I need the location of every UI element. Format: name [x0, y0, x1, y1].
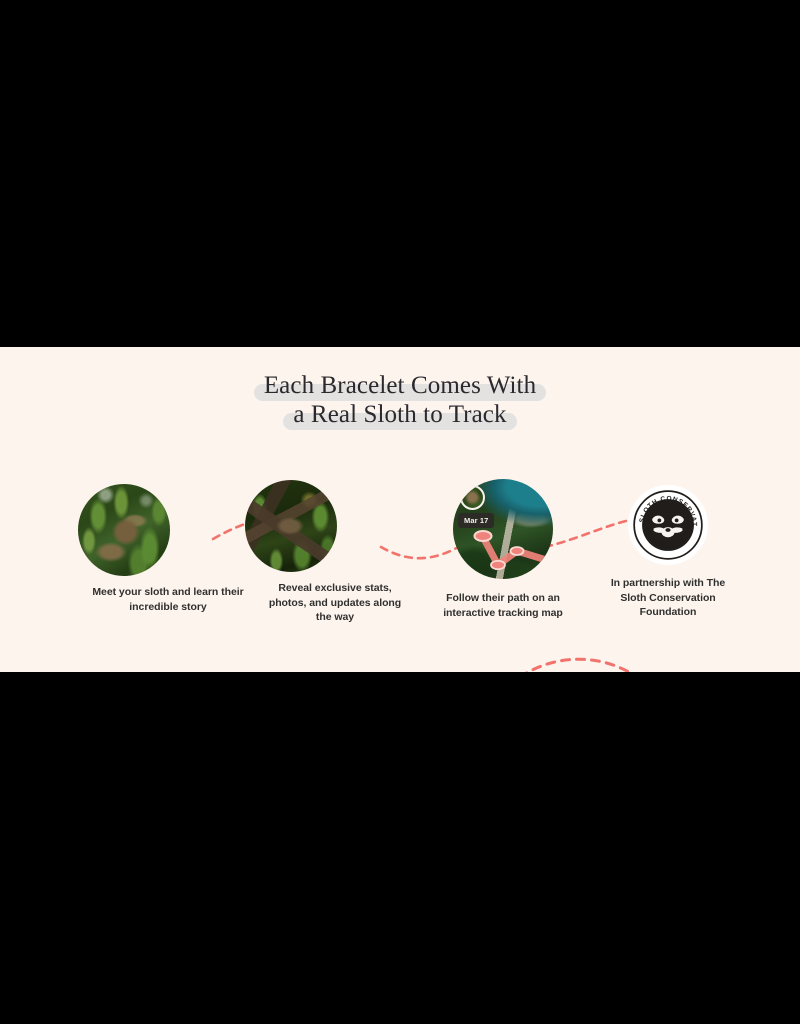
logo-disc: THE SLOTH CONSERVATION FOUNDATION: [628, 485, 708, 565]
bracelet-tracking-section: Each Bracelet Comes With a Real Sloth to…: [0, 347, 800, 672]
step-4-caption: In partnership with The Sloth Conservati…: [600, 576, 736, 620]
step-1-caption: Meet your sloth and learn their incredib…: [87, 585, 249, 614]
sloth-conservation-foundation-logo: THE SLOTH CONSERVATION FOUNDATION: [632, 489, 704, 561]
step-2-media[interactable]: [245, 480, 425, 572]
map-sloth-thumbnail[interactable]: [460, 485, 485, 510]
step-item-meet-your-sloth[interactable]: Meet your sloth and learn their incredib…: [78, 484, 258, 614]
waypoint-marker-1: [475, 531, 492, 541]
step-4-media[interactable]: THE SLOTH CONSERVATION FOUNDATION: [628, 485, 708, 565]
map-date-badge: Mar 17: [458, 513, 494, 528]
sloth-on-branches-photo: [245, 480, 337, 572]
satellite-tracking-map[interactable]: Mar 17: [453, 479, 553, 579]
letterbox-bottom: [0, 672, 800, 1024]
step-item-tracking-map[interactable]: Mar 17 Follow their path on an interacti…: [413, 479, 593, 620]
sloth-in-foliage-photo: [78, 484, 170, 576]
letterbox-top: [0, 0, 800, 347]
waypoint-marker-3: [511, 547, 524, 555]
step-3-caption: Follow their path on an interactive trac…: [429, 591, 577, 620]
page-root: Each Bracelet Comes With a Real Sloth to…: [0, 0, 800, 1024]
step-3-media[interactable]: Mar 17: [453, 479, 553, 579]
waypoint-marker-2: [491, 561, 505, 569]
step-2-caption: Reveal exclusive stats, photos, and upda…: [261, 581, 409, 625]
steps-row: Meet your sloth and learn their incredib…: [0, 347, 800, 672]
step-item-exclusive-stats[interactable]: Reveal exclusive stats, photos, and upda…: [245, 480, 425, 625]
step-1-media[interactable]: [78, 484, 258, 576]
step-item-partnership[interactable]: THE SLOTH CONSERVATION FOUNDATION: [578, 485, 758, 620]
